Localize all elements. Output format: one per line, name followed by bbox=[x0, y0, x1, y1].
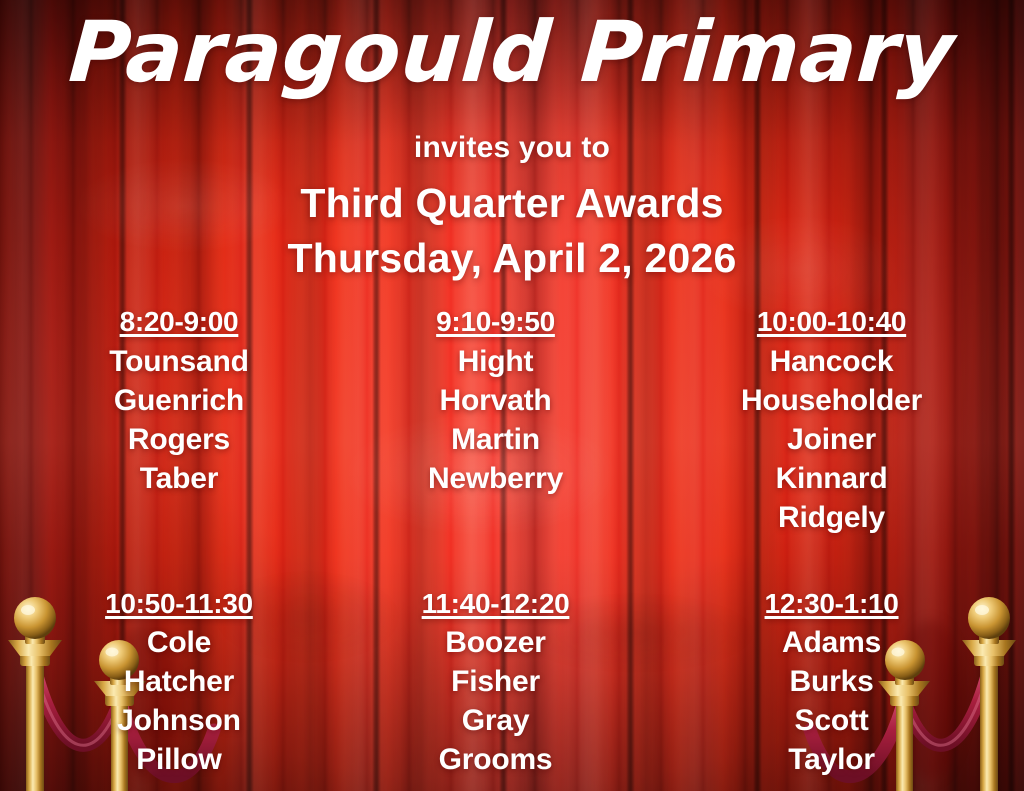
list-item: Kinnard bbox=[661, 459, 1002, 498]
page-title: Paragould Primary bbox=[0, 10, 1024, 94]
list-item: Guenrich bbox=[28, 381, 330, 420]
list-item: Boozer bbox=[330, 623, 661, 662]
list-item: Adams bbox=[661, 623, 1002, 662]
schedule-slot: 12:30-1:10 Adams Burks Scott Taylor bbox=[661, 587, 1002, 780]
schedule-slot: 11:40-12:20 Boozer Fisher Gray Grooms bbox=[330, 587, 661, 780]
list-item: Newberry bbox=[330, 459, 661, 498]
list-item: Burks bbox=[661, 662, 1002, 701]
list-item: Taylor bbox=[661, 740, 1002, 779]
list-item: Scott bbox=[661, 701, 1002, 740]
list-item: Cole bbox=[28, 623, 330, 662]
list-item: Martin bbox=[330, 420, 661, 459]
list-item: Fisher bbox=[330, 662, 661, 701]
event-headline: Third Quarter Awards Thursday, April 2, … bbox=[0, 176, 1024, 285]
list-item: Tounsand bbox=[28, 342, 330, 381]
slot-time-label: 12:30-1:10 bbox=[765, 587, 899, 621]
slot-name-list: Tounsand Guenrich Rogers Taber bbox=[28, 342, 330, 498]
schedule-slot: 8:20-9:00 Tounsand Guenrich Rogers Taber bbox=[28, 305, 330, 537]
schedule-slot: 9:10-9:50 Hight Horvath Martin Newberry bbox=[330, 305, 661, 537]
slot-name-list: Boozer Fisher Gray Grooms bbox=[330, 623, 661, 779]
slot-time-label: 10:00-10:40 bbox=[757, 305, 906, 339]
schedule-grid: 8:20-9:00 Tounsand Guenrich Rogers Taber… bbox=[28, 305, 1002, 779]
list-item: Taber bbox=[28, 459, 330, 498]
event-name: Third Quarter Awards bbox=[0, 176, 1024, 231]
slot-time-label: 8:20-9:00 bbox=[120, 305, 239, 339]
slot-time-label: 11:40-12:20 bbox=[422, 587, 570, 621]
list-item: Ridgely bbox=[661, 498, 1002, 537]
schedule-row: 10:50-11:30 Cole Hatcher Johnson Pillow … bbox=[28, 587, 1002, 780]
list-item: Gray bbox=[330, 701, 661, 740]
list-item: Pillow bbox=[28, 740, 330, 779]
schedule-slot: 10:00-10:40 Hancock Householder Joiner K… bbox=[661, 305, 1002, 537]
list-item: Hight bbox=[330, 342, 661, 381]
awards-invitation-poster: Paragould Primary invites you to Third Q… bbox=[0, 0, 1024, 791]
slot-time-label: 10:50-11:30 bbox=[105, 587, 253, 621]
poster-content: Paragould Primary invites you to Third Q… bbox=[0, 0, 1024, 791]
invitation-subtitle: invites you to bbox=[0, 131, 1024, 165]
slot-name-list: Cole Hatcher Johnson Pillow bbox=[28, 623, 330, 779]
event-date: Thursday, April 2, 2026 bbox=[0, 231, 1024, 286]
list-item: Johnson bbox=[28, 701, 330, 740]
list-item: Joiner bbox=[661, 420, 1002, 459]
schedule-row: 8:20-9:00 Tounsand Guenrich Rogers Taber… bbox=[28, 305, 1002, 537]
slot-time-label: 9:10-9:50 bbox=[436, 305, 555, 339]
slot-name-list: Hancock Householder Joiner Kinnard Ridge… bbox=[661, 342, 1002, 537]
list-item: Householder bbox=[661, 381, 1002, 420]
list-item: Hancock bbox=[661, 342, 1002, 381]
schedule-slot: 10:50-11:30 Cole Hatcher Johnson Pillow bbox=[28, 587, 330, 780]
list-item: Horvath bbox=[330, 381, 661, 420]
list-item: Hatcher bbox=[28, 662, 330, 701]
slot-name-list: Hight Horvath Martin Newberry bbox=[330, 342, 661, 498]
list-item: Grooms bbox=[330, 740, 661, 779]
slot-name-list: Adams Burks Scott Taylor bbox=[661, 623, 1002, 779]
list-item: Rogers bbox=[28, 420, 330, 459]
